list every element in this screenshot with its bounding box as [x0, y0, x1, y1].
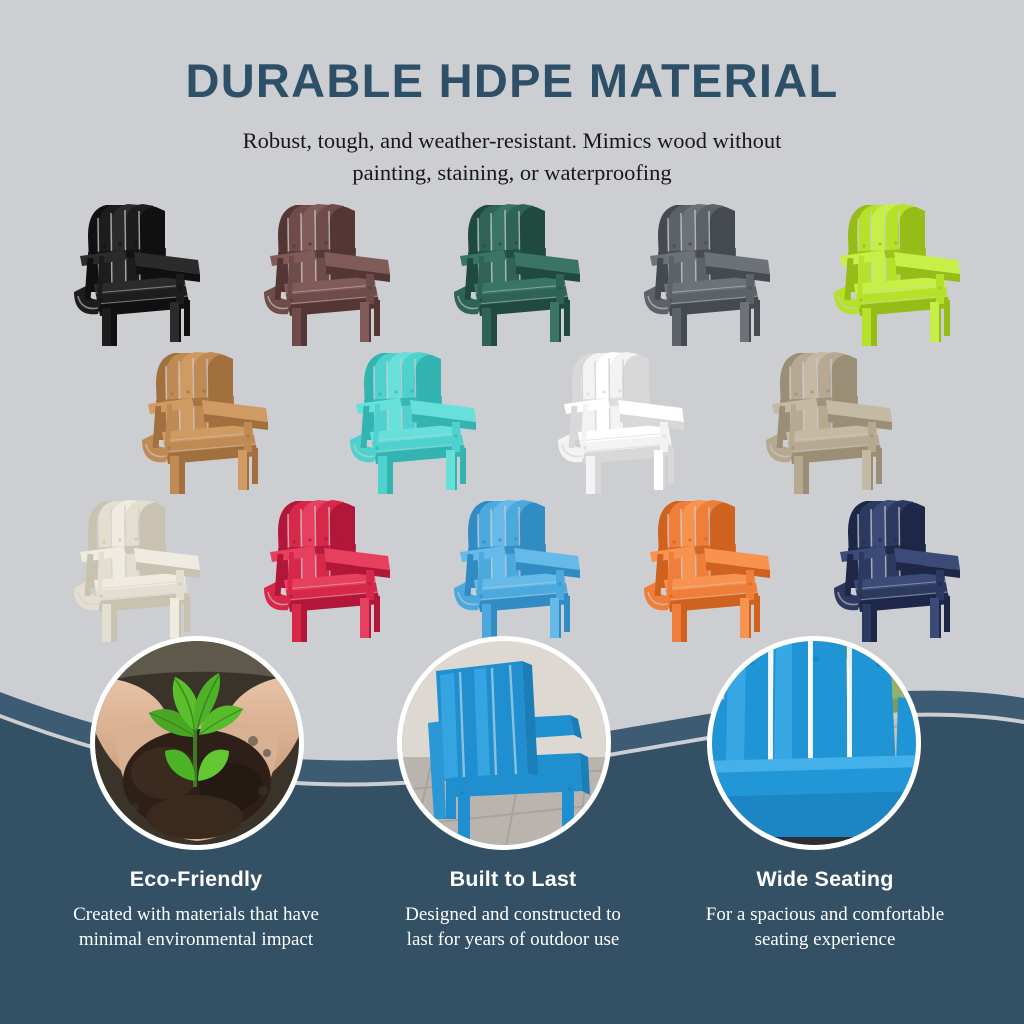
chair-row-1: [0, 196, 1024, 346]
chair-swatch-light-blue[interactable]: [438, 492, 586, 642]
feature-body: Designed and constructed to last for yea…: [348, 892, 678, 954]
chair-swatch-orange[interactable]: [628, 492, 776, 642]
infographic-page: DURABLE HDPE MATERIAL Robust, tough, and…: [0, 0, 1024, 1024]
seedling-in-hands-photo: [95, 641, 299, 845]
adirondack-chair-dark-green: [438, 196, 586, 346]
chair-swatch-white[interactable]: [542, 344, 690, 494]
feature-photo-eco-friendly: [90, 636, 304, 850]
chair-swatch-khaki[interactable]: [750, 344, 898, 494]
blue-chair-on-patio-photo: [402, 641, 606, 845]
chair-swatch-brown[interactable]: [248, 196, 396, 346]
adirondack-chair-red: [248, 492, 396, 642]
feature-photo-wide-seating: [707, 636, 921, 850]
feature-caption-eco-friendly: Eco-Friendly Created with materials that…: [31, 868, 361, 953]
chair-swatch-ivory[interactable]: [58, 492, 206, 642]
adirondack-chair-khaki: [750, 344, 898, 494]
chair-color-grid: [0, 196, 1024, 646]
chair-swatch-teak-brown[interactable]: [126, 344, 274, 494]
chair-swatch-gray[interactable]: [628, 196, 776, 346]
feature-caption-wide-seating: Wide Seating For a spacious and comforta…: [660, 868, 990, 953]
page-title: DURABLE HDPE MATERIAL: [0, 0, 1024, 104]
chair-swatch-red[interactable]: [248, 492, 396, 642]
adirondack-chair-white: [542, 344, 690, 494]
feature-photo-row: [0, 634, 1024, 854]
adirondack-chair-light-blue: [438, 492, 586, 642]
page-subtitle: Robust, tough, and weather-resistant. Mi…: [0, 104, 1024, 189]
chair-swatch-dark-green[interactable]: [438, 196, 586, 346]
chair-swatch-lime-green[interactable]: [818, 196, 966, 346]
adirondack-chair-teak-brown: [126, 344, 274, 494]
chair-swatch-turquoise[interactable]: [334, 344, 482, 494]
adirondack-chair-brown: [248, 196, 396, 346]
chair-swatch-black[interactable]: [58, 196, 206, 346]
chair-swatch-navy-blue[interactable]: [818, 492, 966, 642]
feature-body: Created with materials that have minimal…: [31, 892, 361, 954]
feature-body: For a spacious and comfortable seating e…: [660, 892, 990, 954]
adirondack-chair-ivory: [58, 492, 206, 642]
adirondack-chair-turquoise: [334, 344, 482, 494]
feature-title: Wide Seating: [660, 868, 990, 892]
chair-row-2: [0, 344, 1024, 494]
adirondack-chair-navy-blue: [818, 492, 966, 642]
chair-row-3: [0, 492, 1024, 642]
adirondack-chair-orange: [628, 492, 776, 642]
feature-caption-built-to-last: Built to Last Designed and constructed t…: [348, 868, 678, 953]
adirondack-chair-lime-green: [818, 196, 966, 346]
feature-title: Eco-Friendly: [31, 868, 361, 892]
header-block: DURABLE HDPE MATERIAL Robust, tough, and…: [0, 0, 1024, 189]
adirondack-chair-gray: [628, 196, 776, 346]
feature-photo-built-to-last: [397, 636, 611, 850]
adirondack-chair-black: [58, 196, 206, 346]
wide-blue-chair-seat-photo: [712, 641, 916, 845]
feature-title: Built to Last: [348, 868, 678, 892]
